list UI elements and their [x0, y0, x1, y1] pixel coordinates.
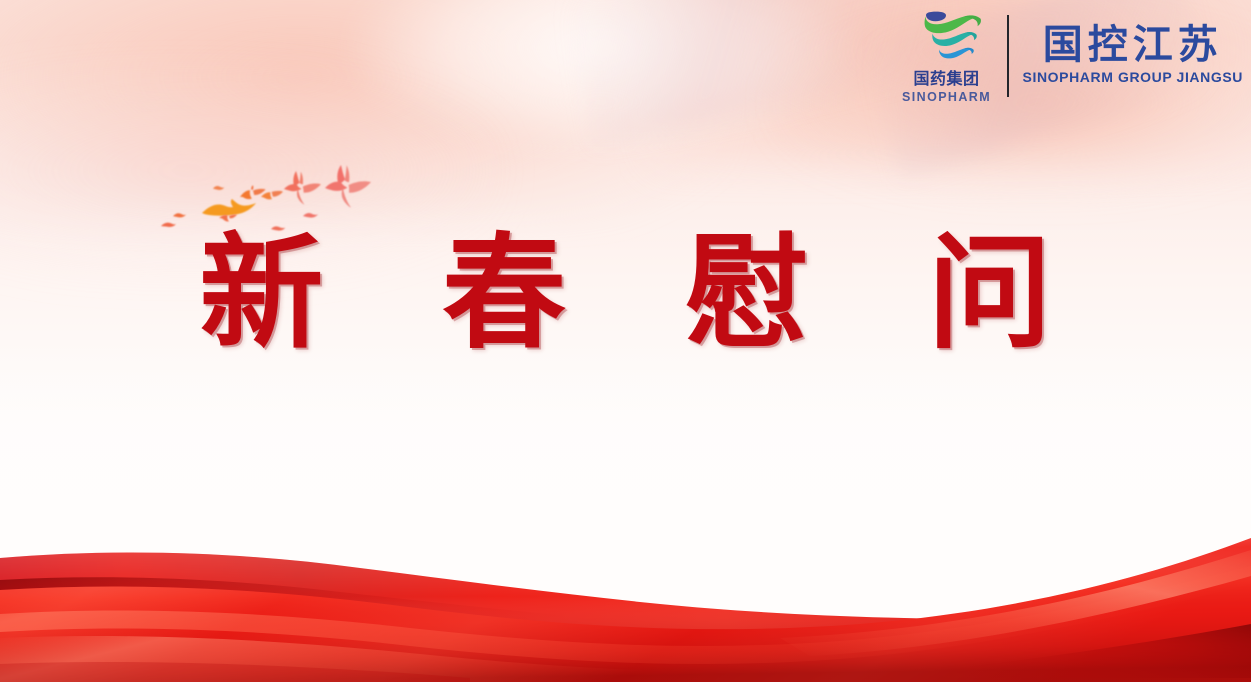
sinopharm-en-name: SINOPHARM: [902, 91, 991, 104]
bird-icon-small-3: [212, 182, 226, 192]
bird-icon-small-4: [218, 211, 240, 225]
bird-icon-large-1: [282, 169, 326, 211]
logo-divider: [1007, 15, 1009, 97]
logo-lockup: 国药集团 SINOPHARM 国控江苏 SINOPHARM GROUP JIAN…: [899, 6, 1243, 106]
jiangsu-cn-name: 国控江苏: [1043, 24, 1223, 66]
poster-canvas: 新 春 慰 问 国药集团 SINOPHARM 国控江苏: [0, 0, 1251, 682]
poster-title: 新 春 慰 问: [0, 232, 1251, 356]
jiangsu-logo: 国控江苏 SINOPHARM GROUP JIANGSU: [1023, 24, 1243, 88]
bird-icon-large-2: [323, 163, 377, 213]
sinopharm-logo: 国药集团 SINOPHARM: [899, 9, 995, 104]
bird-icon-small-2: [172, 209, 188, 220]
red-silk-ribbon: [0, 532, 1251, 682]
sinopharm-ribbon-mark: [911, 11, 983, 69]
jiangsu-en-name: SINOPHARM GROUP JIANGSU: [1023, 70, 1243, 84]
sinopharm-cn-name: 国药集团: [914, 72, 980, 88]
bird-icon-small-7: [302, 209, 320, 221]
